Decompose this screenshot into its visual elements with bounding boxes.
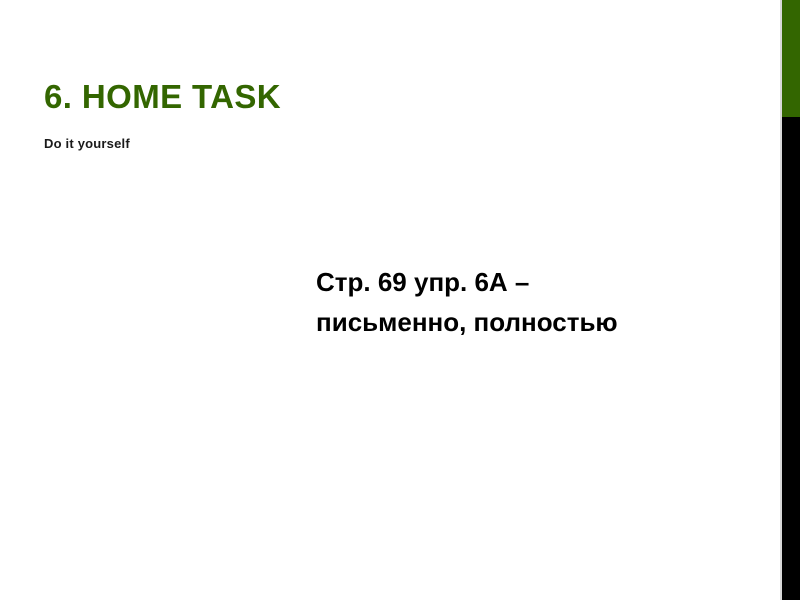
body-line: Стр. 69 упр. 6А –: [316, 262, 756, 302]
rail-green-segment: [782, 0, 800, 117]
rail-black-segment: [782, 117, 800, 600]
right-edge-rail: [780, 0, 800, 600]
slide-title: 6. HOME TASK: [44, 78, 724, 116]
slide-subtitle: Do it yourself: [44, 116, 724, 152]
slide-body-text: Стр. 69 упр. 6А – письменно, полностью: [316, 262, 756, 342]
body-line: письменно, полностью: [316, 302, 756, 342]
slide-canvas: 6. HOME TASK Do it yourself Стр. 69 упр.…: [0, 0, 800, 600]
title-block: 6. HOME TASK Do it yourself: [44, 78, 724, 152]
